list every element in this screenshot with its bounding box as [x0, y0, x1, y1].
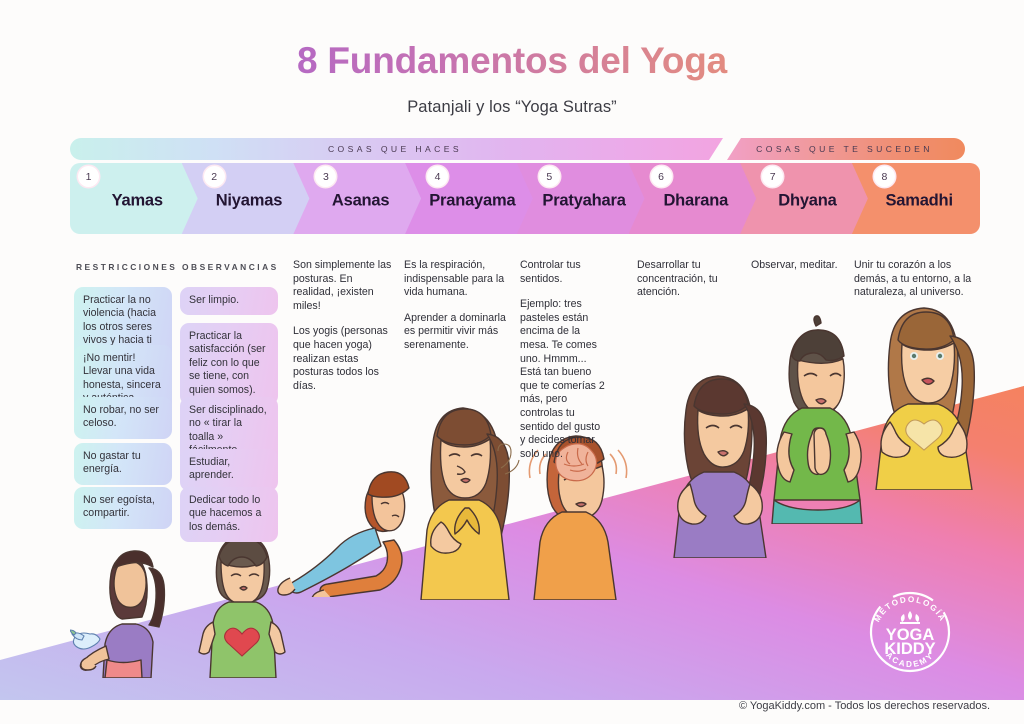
step-dhyana[interactable]: 7Dhyana — [740, 163, 869, 234]
pill-restricciones-4: No gastar tu energía. — [74, 443, 172, 485]
category-bar: COSAS QUE HACES COSAS QUE TE SUCEDEN — [70, 138, 965, 160]
step-number-8: 8 — [874, 166, 895, 187]
pratyahara-paragraph-1: Controlar tus sentidos. — [520, 259, 608, 286]
step-dharana[interactable]: 6Dharana — [629, 163, 758, 234]
step-label-yamas: Yamas — [70, 191, 199, 210]
step-pranayama[interactable]: 4Pranayama — [405, 163, 534, 234]
page-title: 8 Fundamentos del Yoga — [0, 40, 1024, 82]
step-label-dharana: Dharana — [629, 191, 758, 210]
category-cosas-que-te-suceden: COSAS QUE TE SUCEDEN — [727, 138, 965, 160]
description-pratyahara: Controlar tus sentidos.Ejemplo: tres pas… — [520, 259, 608, 461]
step-number-1: 1 — [78, 166, 99, 187]
pill-restricciones-5: No ser egoísta, compartir. — [74, 487, 172, 529]
step-label-asanas: Asanas — [293, 191, 422, 210]
illustration-asanas-cobra-pose — [268, 462, 418, 597]
page-header: 8 Fundamentos del Yoga Patanjali y los “… — [0, 40, 1024, 117]
category-left-label: COSAS QUE HACES — [328, 144, 465, 154]
step-number-5: 5 — [539, 166, 560, 187]
step-samadhi[interactable]: 8Samadhi — [852, 163, 981, 234]
pratyahara-paragraph-2: Ejemplo: tres pasteles están encima de l… — [520, 298, 608, 461]
step-number-2: 2 — [204, 166, 225, 187]
description-dhyana: Observar, meditar. — [751, 259, 849, 273]
step-number-7: 7 — [762, 166, 783, 187]
step-label-pranayama: Pranayama — [405, 191, 534, 210]
steps-chevron-row: 1Yamas2Niyamas3Asanas4Pranayama5Pratyaha… — [70, 163, 965, 234]
pill-observancias-2: Practicar la satisfacción (ser feliz con… — [180, 323, 278, 405]
description-dharana: Desarrollar tu concentración, tu atenció… — [637, 259, 731, 300]
illustration-yamas-girl-with-dove — [70, 528, 190, 678]
step-yamas[interactable]: 1Yamas — [70, 163, 199, 234]
description-samadhi: Unir tu corazón a los demás, a tu entorn… — [854, 259, 972, 300]
samadhi-paragraph-1: Unir tu corazón a los demás, a tu entorn… — [854, 259, 972, 300]
category-right-label: COSAS QUE TE SUCEDEN — [756, 144, 936, 154]
pill-observancias-1: Ser limpio. — [180, 287, 278, 315]
asanas-paragraph-1: Son simplemente las posturas. En realida… — [293, 259, 393, 313]
step-number-4: 4 — [427, 166, 448, 187]
dharana-paragraph-1: Desarrollar tu concentración, tu atenció… — [637, 259, 731, 300]
description-pranayama: Es la respiración, indispensable para la… — [404, 259, 508, 353]
step-label-dhyana: Dhyana — [740, 191, 869, 210]
pill-restricciones-3: No robar, no ser celoso. — [74, 397, 172, 439]
step-number-3: 3 — [315, 166, 336, 187]
category-cosas-que-haces: COSAS QUE HACES — [70, 138, 723, 160]
asanas-paragraph-2: Los yogis (personas que hacen yoga) real… — [293, 325, 393, 393]
step-label-pratyahara: Pratyahara — [517, 191, 646, 210]
heading-observancias: OBSERVANCIAS — [182, 262, 279, 272]
description-asanas: Son simplemente las posturas. En realida… — [293, 259, 393, 393]
illustration-dhyana-meditating-boy — [760, 312, 878, 524]
footer-copyright: © YogaKiddy.com - Todos los derechos res… — [739, 700, 990, 712]
pranayama-paragraph-2: Aprender a dominarla es permitir vivir m… — [404, 312, 508, 353]
step-niyamas[interactable]: 2Niyamas — [182, 163, 311, 234]
step-asanas[interactable]: 3Asanas — [293, 163, 422, 234]
pill-observancias-4: Estudiar, aprender. — [180, 449, 278, 491]
illustration-pranayama-breathing-girl — [405, 400, 525, 600]
heading-restricciones: RESTRICCIONES — [76, 262, 177, 272]
step-label-niyamas: Niyamas — [182, 191, 311, 210]
dhyana-paragraph-1: Observar, meditar. — [751, 259, 849, 273]
step-number-6: 6 — [651, 166, 672, 187]
step-label-samadhi: Samadhi — [852, 191, 981, 210]
page-subtitle: Patanjali y los “Yoga Sutras” — [0, 98, 1024, 117]
pill-observancias-5: Dedicar todo lo que hacemos a los demás. — [180, 487, 278, 542]
pranayama-paragraph-1: Es la respiración, indispensable para la… — [404, 259, 508, 300]
yogakiddy-logo-badge: METODOLOGÍA YOGA KIDDY ACADEMY — [862, 584, 958, 680]
step-pratyahara[interactable]: 5Pratyahara — [517, 163, 646, 234]
illustration-samadhi-heart-hands-girl — [862, 300, 986, 490]
logo-lotus-icon — [900, 611, 920, 624]
